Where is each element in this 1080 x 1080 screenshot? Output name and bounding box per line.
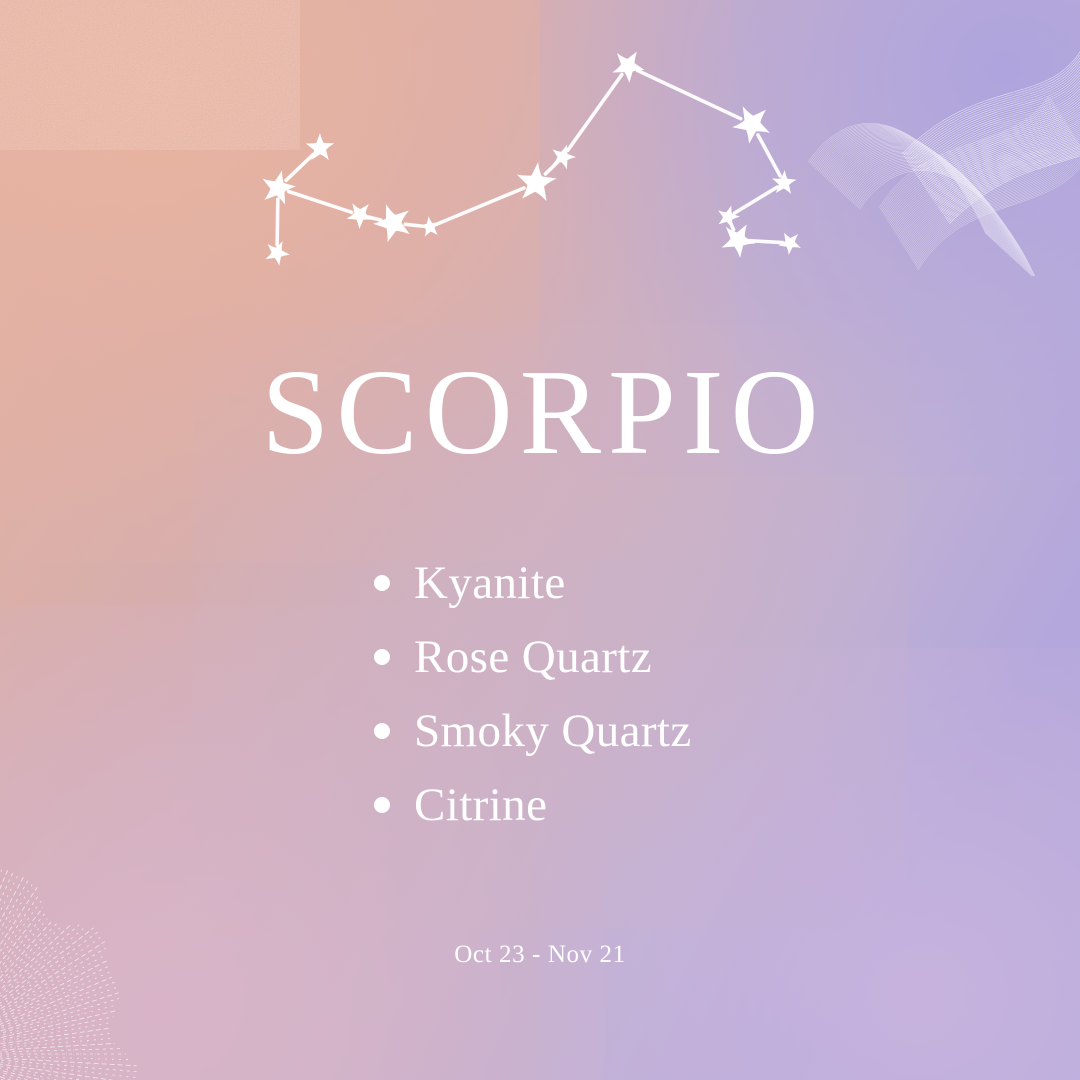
list-item-label: Rose Quartz [414,634,652,681]
list-item-label: Kyanite [414,560,566,607]
list-item-label: Citrine [414,782,547,829]
constellation-line [638,70,741,118]
constellation-line [758,135,780,176]
page-title: SCORPIO [0,352,1080,474]
star-point [419,216,440,237]
list-item: Kyanite [374,546,692,620]
star-point [722,224,756,258]
constellation-line [568,75,622,151]
list-item: Smoky Quartz [374,694,692,768]
bullet-dot-icon [374,649,390,665]
date-range: Oct 23 - Nov 21 [0,942,1080,967]
constellation-line [277,199,278,245]
constellation-line [286,154,313,180]
list-item-label: Smoky Quartz [414,708,692,755]
list-item: Citrine [374,768,692,842]
star-point [772,170,797,194]
bullet-dot-icon [374,575,390,591]
constellation-line [734,187,777,213]
star-point [718,205,740,228]
star-point [732,106,770,144]
constellation-graphic [0,0,1080,1080]
bullet-dot-icon [374,723,390,739]
bullet-dot-icon [374,797,390,813]
zodiac-card: SCORPIO KyaniteRose QuartzSmoky QuartzCi… [0,0,1080,1080]
constellation-line [436,188,524,224]
gemstone-list: KyaniteRose QuartzSmoky QuartzCitrine [374,546,692,842]
constellation-line [749,241,782,243]
star-point [778,233,801,255]
constellation-line [289,191,352,212]
constellation-line [545,163,557,174]
list-item: Rose Quartz [374,620,692,694]
